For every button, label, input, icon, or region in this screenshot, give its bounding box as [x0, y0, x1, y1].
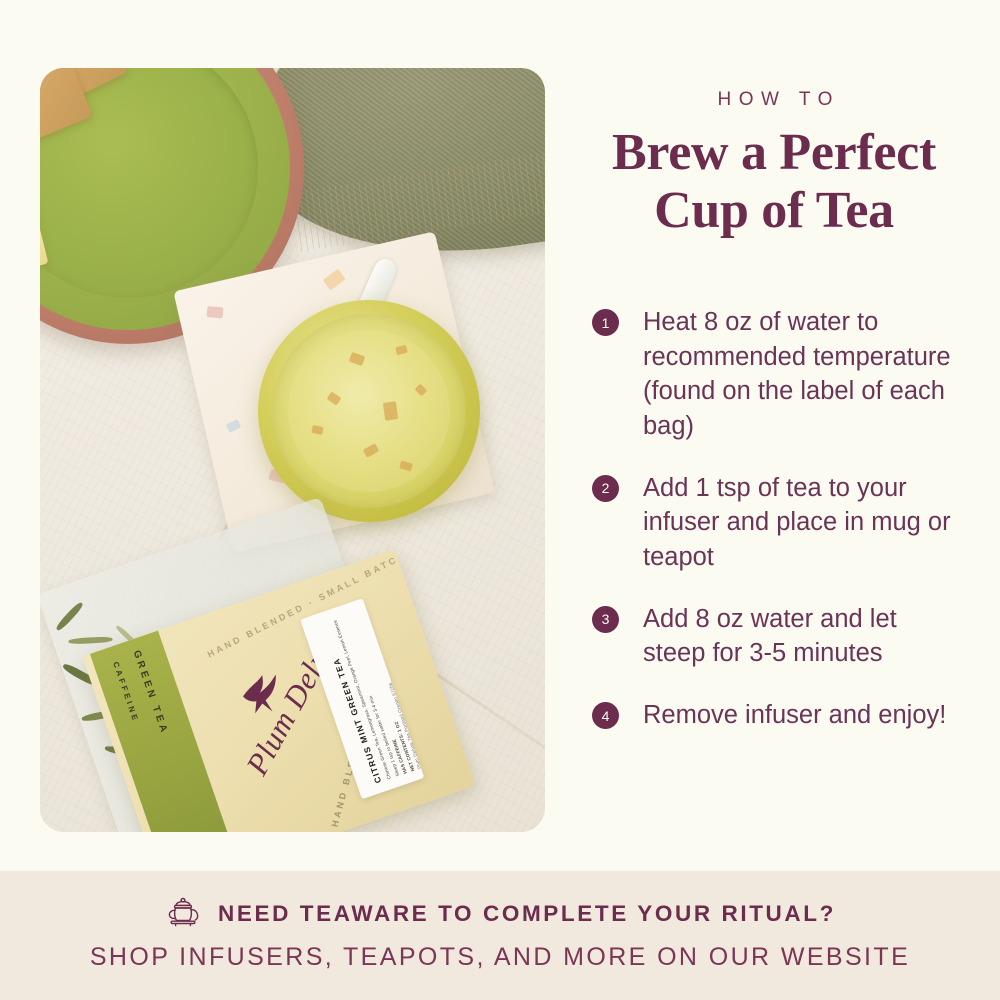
- cup-rim: [272, 314, 466, 508]
- infographic-canvas: GREEN TEA CAFFEINE HAND BLENDED · SMALL …: [0, 0, 1000, 1000]
- step-text: Add 1 tsp of tea to your infuser and pla…: [643, 471, 964, 575]
- step-text: Add 8 oz water and let steep for 3-5 min…: [643, 602, 964, 671]
- tea-fleck: [349, 352, 366, 366]
- step-item: 4 Remove infuser and enjoy!: [592, 698, 964, 733]
- tea-fleck: [363, 443, 380, 458]
- brewed-tea-liquid: [288, 330, 450, 492]
- footer-banner-line-2: SHOP INFUSERS, TEAPOTS, AND MORE ON OUR …: [0, 943, 1000, 972]
- kicker-how-to: HOW TO: [590, 89, 960, 111]
- page-title-line-1: Brew a Perfect: [572, 124, 976, 182]
- package-band-green-tea: GREEN TEA: [131, 649, 170, 737]
- footer-banner: NEED TEAWARE TO COMPLETE YOUR RITUAL? SH…: [0, 871, 1000, 1000]
- tea-fleck: [327, 391, 342, 405]
- tea-leaf: [55, 601, 85, 632]
- glass-teacup: [258, 300, 480, 522]
- step-text: Heat 8 oz of water to recommended temper…: [643, 305, 964, 444]
- tea-fleck: [383, 401, 398, 421]
- package-label-ingredients: Chinese Green Tea, Lemongrass, Spearmint…: [330, 614, 391, 780]
- product-photo: GREEN TEA CAFFEINE HAND BLENDED · SMALL …: [40, 68, 545, 832]
- step-number-badge: 4: [592, 702, 619, 729]
- footer-banner-row: NEED TEAWARE TO COMPLETE YOUR RITUAL?: [0, 897, 1000, 931]
- package-side-label: CITRUS MINT GREEN TEA Chinese Green Tea,…: [300, 598, 424, 799]
- teapot-icon-svg: [164, 897, 204, 931]
- terrazzo-chip: [226, 419, 242, 433]
- step-text: Remove infuser and enjoy!: [643, 698, 964, 733]
- step-item: 2 Add 1 tsp of tea to your infuser and p…: [592, 471, 964, 575]
- tea-leaf: [68, 636, 112, 644]
- terrazzo-chip: [207, 306, 224, 318]
- terrazzo-chip: [323, 269, 346, 291]
- step-number-badge: 3: [592, 606, 619, 633]
- teapot-icon: [164, 897, 204, 931]
- page-title-line-2: Cup of Tea: [572, 182, 976, 240]
- tea-fleck: [399, 461, 413, 472]
- tea-fleck: [415, 384, 428, 397]
- step-item: 3 Add 8 oz water and let steep for 3-5 m…: [592, 602, 964, 671]
- tea-fleck: [311, 425, 323, 435]
- step-number-badge: 2: [592, 475, 619, 502]
- step-number-badge: 1: [592, 309, 619, 336]
- tea-fleck: [395, 345, 408, 355]
- page-title: Brew a Perfect Cup of Tea: [572, 124, 976, 240]
- steps-list: 1 Heat 8 oz of water to recommended temp…: [592, 305, 964, 733]
- footer-banner-line-1: NEED TEAWARE TO COMPLETE YOUR RITUAL?: [218, 901, 836, 927]
- step-item: 1 Heat 8 oz of water to recommended temp…: [592, 305, 964, 444]
